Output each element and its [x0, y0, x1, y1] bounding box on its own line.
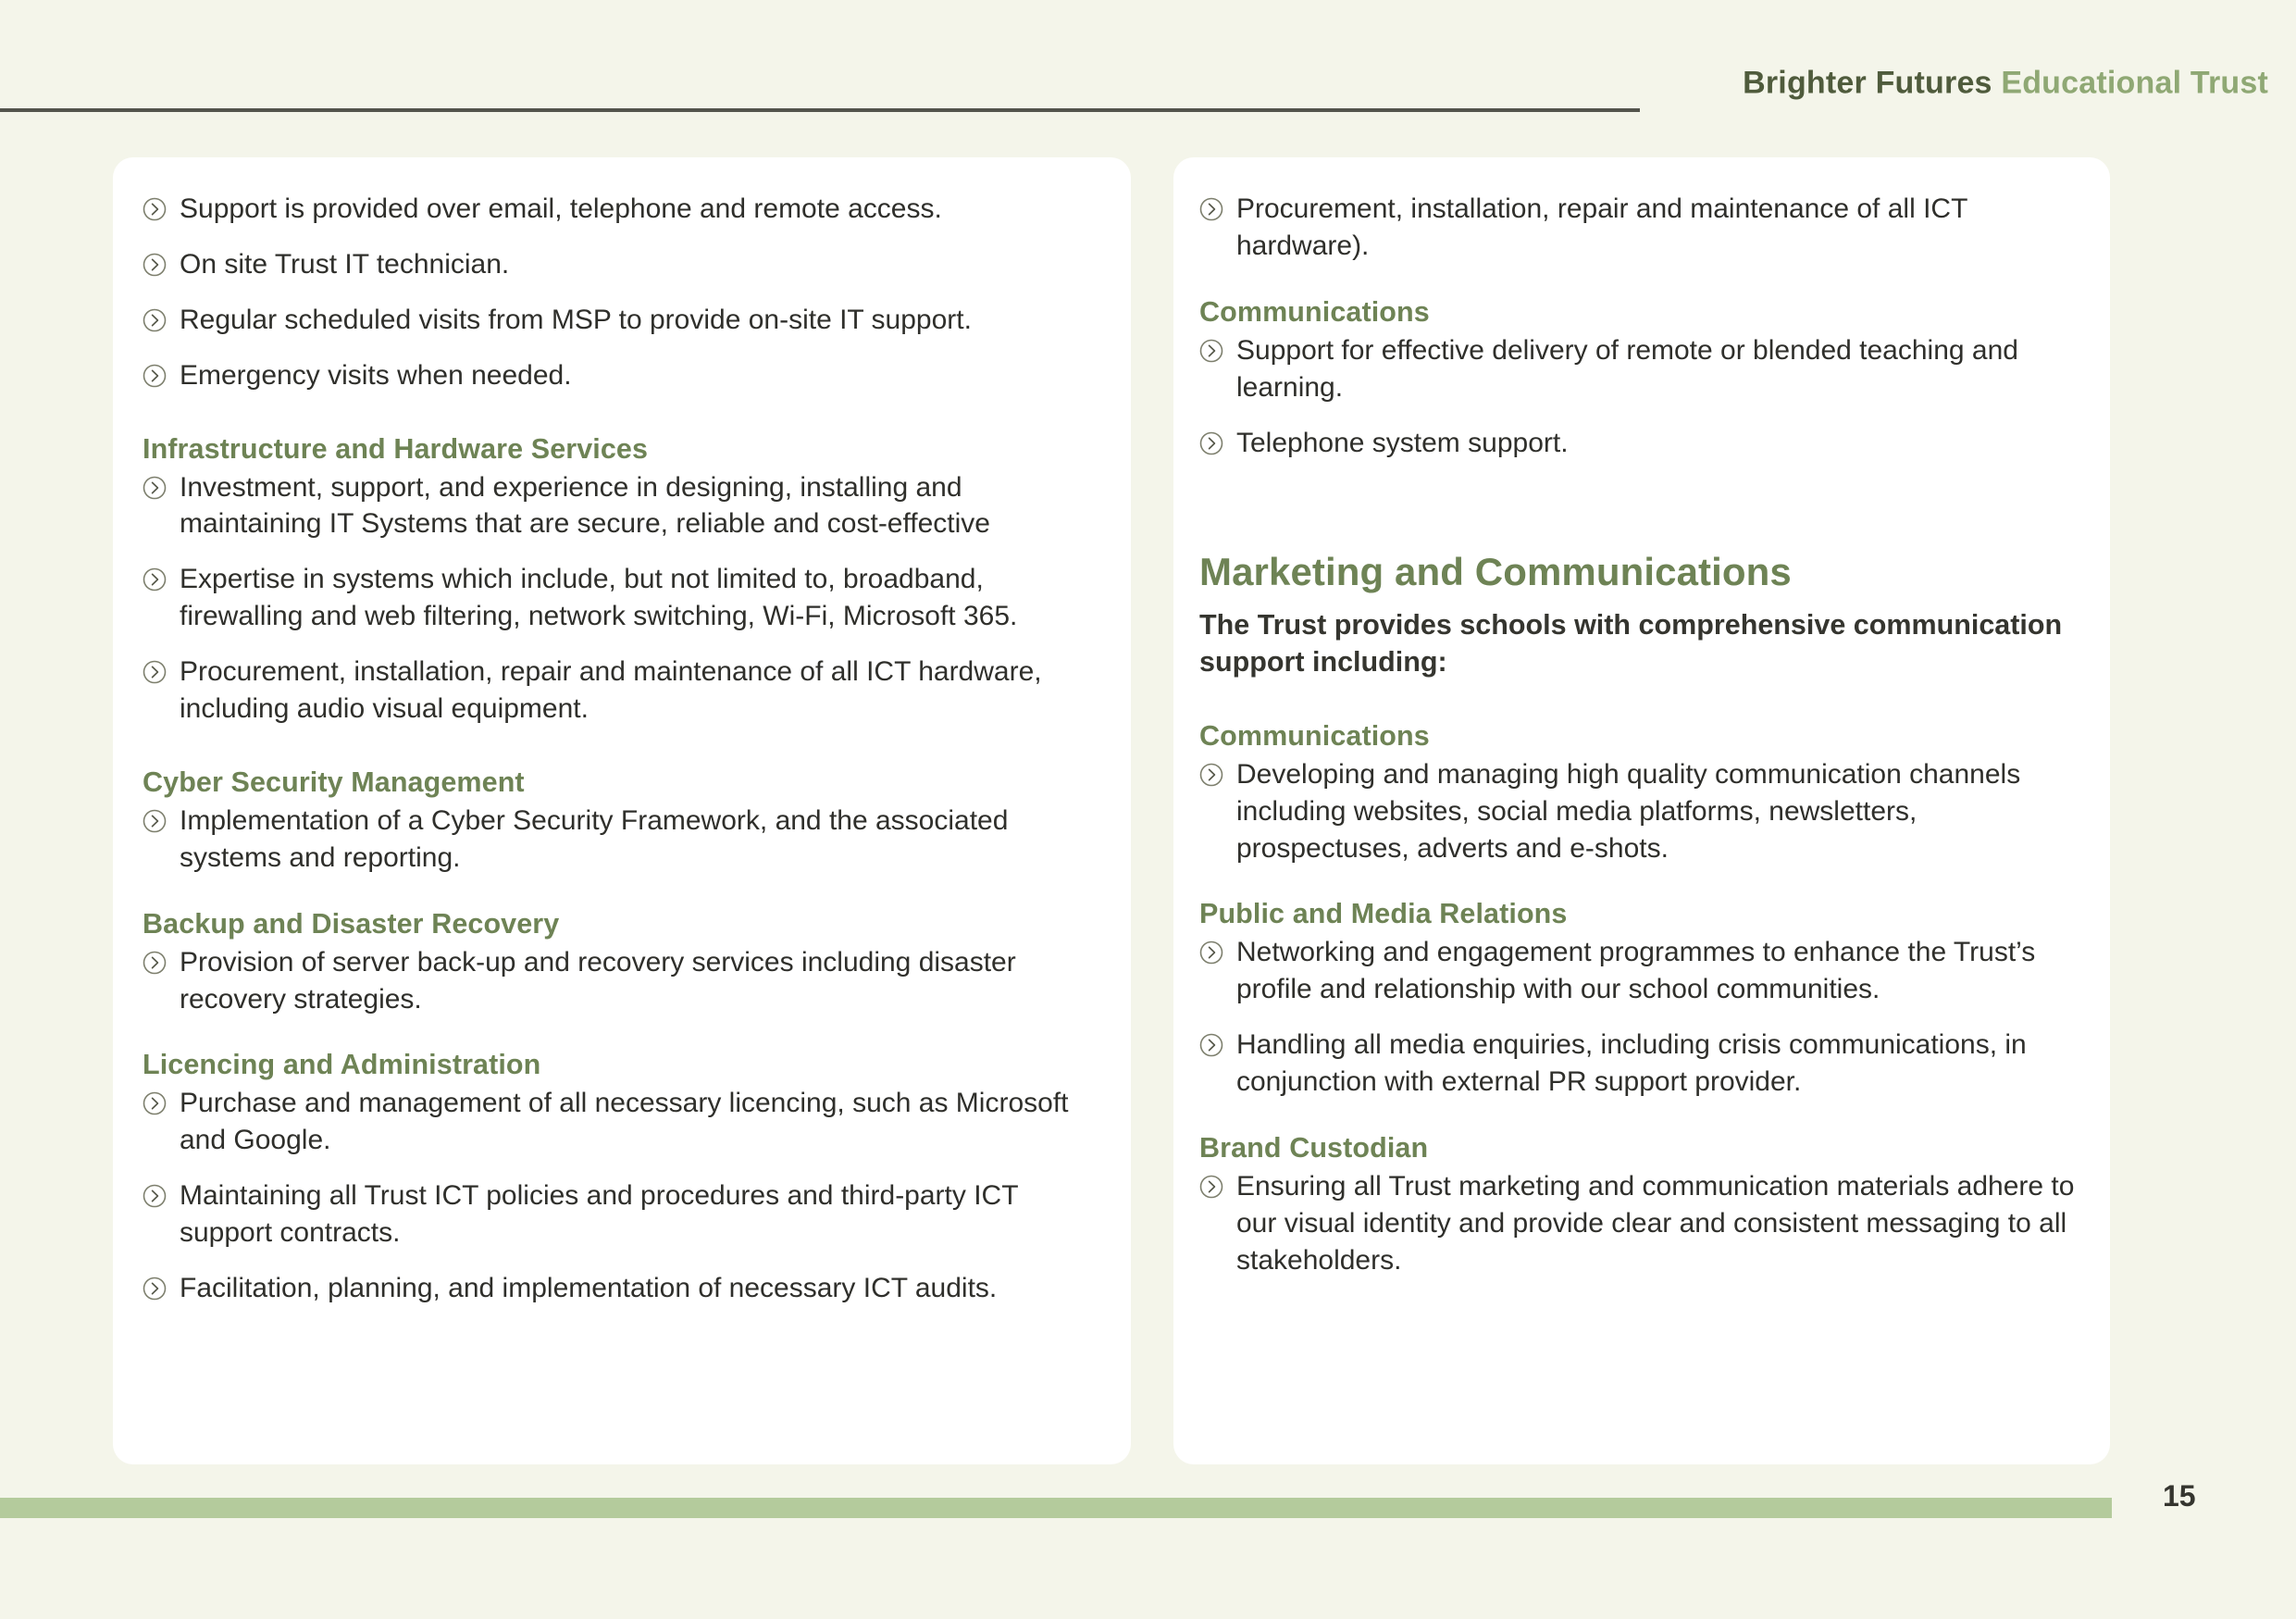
left-content-card: Support is provided over email, telephon… [113, 157, 1131, 1464]
list-item-text: Developing and managing high quality com… [1236, 759, 2020, 864]
brand-title-primary: Brighter Futures [1743, 66, 1992, 101]
circled-chevron-right-icon [143, 1184, 167, 1208]
section-bullet-list-infrastructure: Investment, support, and experience in d… [143, 469, 1098, 728]
list-item: Facilitation, planning, and implementati… [143, 1270, 1098, 1307]
list-item-text: Emergency visits when needed. [180, 360, 572, 391]
page-title-marketing-communications: Marketing and Communications [1199, 550, 2097, 594]
list-item: Procurement, installation, repair and ma… [143, 654, 1098, 728]
list-item-text: On site Trust IT technician. [180, 249, 509, 280]
section-bullet-list-backup-recovery: Provision of server back-up and recovery… [143, 944, 1098, 1018]
circled-chevron-right-icon [1199, 1033, 1223, 1057]
section-heading-licencing-administration: Licencing and Administration [143, 1049, 1098, 1081]
circled-chevron-right-icon [143, 660, 167, 684]
list-item: Maintaining all Trust ICT policies and p… [143, 1177, 1098, 1252]
section-bullet-list-public-media-relations: Networking and engagement programmes to … [1199, 934, 2097, 1101]
list-item-text: Procurement, installation, repair and ma… [1236, 193, 1967, 261]
list-item-text: Provision of server back-up and recovery… [180, 947, 1016, 1015]
list-item: Procurement, installation, repair and ma… [1199, 191, 2097, 265]
section-heading-brand-custodian: Brand Custodian [1199, 1132, 2097, 1164]
list-item-text: Ensuring all Trust marketing and communi… [1236, 1171, 2074, 1276]
list-item-text: Facilitation, planning, and implementati… [180, 1273, 997, 1303]
list-item-text: Handling all media enquiries, including … [1236, 1029, 2027, 1097]
section-bullet-list-licencing-administration: Purchase and management of all necessary… [143, 1085, 1098, 1306]
list-item-text: Investment, support, and experience in d… [180, 472, 990, 540]
circled-chevron-right-icon [143, 567, 167, 592]
list-item-text: Support is provided over email, telephon… [180, 193, 942, 224]
page-number: 15 [2163, 1479, 2196, 1513]
section-heading-backup-recovery: Backup and Disaster Recovery [143, 908, 1098, 940]
section-heading-communications-lower: Communications [1199, 720, 2097, 753]
circled-chevron-right-icon [143, 364, 167, 388]
left-top-bullet-list: Support is provided over email, telephon… [143, 191, 1098, 394]
page-header: Brighter Futures Educational Trust [0, 0, 2296, 148]
circled-chevron-right-icon [143, 253, 167, 277]
list-item: Networking and engagement programmes to … [1199, 934, 2097, 1008]
list-item: Regular scheduled visits from MSP to pro… [143, 302, 1098, 339]
list-item: Expertise in systems which include, but … [143, 561, 1098, 635]
list-item: Purchase and management of all necessary… [143, 1085, 1098, 1159]
list-item: Emergency visits when needed. [143, 357, 1098, 394]
section-heading-public-media-relations: Public and Media Relations [1199, 898, 2097, 930]
circled-chevron-right-icon [143, 1091, 167, 1115]
circled-chevron-right-icon [143, 308, 167, 332]
list-item: On site Trust IT technician. [143, 246, 1098, 283]
list-item-text: Expertise in systems which include, but … [180, 564, 1017, 631]
list-item: Provision of server back-up and recovery… [143, 944, 1098, 1018]
list-item: Handling all media enquiries, including … [1199, 1027, 2097, 1101]
circled-chevron-right-icon [143, 809, 167, 833]
right-top-bullet-list: Procurement, installation, repair and ma… [1199, 191, 2097, 265]
section-heading-cyber-security: Cyber Security Management [143, 766, 1098, 799]
list-item: Implementation of a Cyber Security Frame… [143, 803, 1098, 877]
circled-chevron-right-icon [1199, 940, 1223, 965]
list-item: Developing and managing high quality com… [1199, 756, 2097, 867]
list-item: Telephone system support. [1199, 425, 2097, 462]
list-item-text: Procurement, installation, repair and ma… [180, 656, 1042, 724]
section-bullet-list-brand-custodian: Ensuring all Trust marketing and communi… [1199, 1168, 2097, 1279]
brand-title-secondary: Educational Trust [2001, 66, 2268, 101]
section-heading-communications-upper: Communications [1199, 296, 2097, 329]
circled-chevron-right-icon [1199, 197, 1223, 221]
list-item-text: Networking and engagement programmes to … [1236, 937, 2035, 1004]
circled-chevron-right-icon [1199, 431, 1223, 455]
circled-chevron-right-icon [143, 1277, 167, 1301]
section-bullet-list-communications-upper: Support for effective delivery of remote… [1199, 332, 2097, 462]
brand-title: Brighter Futures Educational Trust [1743, 66, 2268, 102]
list-item-text: Support for effective delivery of remote… [1236, 335, 2018, 403]
section-bullet-list-cyber-security: Implementation of a Cyber Security Frame… [143, 803, 1098, 877]
intro-paragraph-line-1: The Trust provides schools with comprehe… [1199, 607, 2097, 644]
list-item-text: Purchase and management of all necessary… [180, 1088, 1068, 1155]
circled-chevron-right-icon [143, 197, 167, 221]
circled-chevron-right-icon [143, 951, 167, 975]
document-page: Brighter Futures Educational Trust Suppo… [0, 0, 2296, 1619]
intro-paragraph-line-2: support including: [1199, 644, 2097, 681]
list-item: Support is provided over email, telephon… [143, 191, 1098, 228]
circled-chevron-right-icon [143, 476, 167, 500]
circled-chevron-right-icon [1199, 339, 1223, 363]
list-item: Ensuring all Trust marketing and communi… [1199, 1168, 2097, 1279]
circled-chevron-right-icon [1199, 763, 1223, 787]
list-item: Support for effective delivery of remote… [1199, 332, 2097, 406]
section-bullet-list-communications-lower: Developing and managing high quality com… [1199, 756, 2097, 867]
section-heading-infrastructure: Infrastructure and Hardware Services [143, 433, 1098, 466]
circled-chevron-right-icon [1199, 1175, 1223, 1199]
list-item-text: Implementation of a Cyber Security Frame… [180, 805, 1008, 873]
right-content-card: Procurement, installation, repair and ma… [1173, 157, 2110, 1464]
list-item: Investment, support, and experience in d… [143, 469, 1098, 543]
list-item-text: Maintaining all Trust ICT policies and p… [180, 1180, 1018, 1248]
footer-accent-bar [0, 1498, 2112, 1518]
list-item-text: Telephone system support. [1236, 428, 1569, 458]
header-divider-rule [0, 108, 1640, 112]
list-item-text: Regular scheduled visits from MSP to pro… [180, 305, 972, 335]
